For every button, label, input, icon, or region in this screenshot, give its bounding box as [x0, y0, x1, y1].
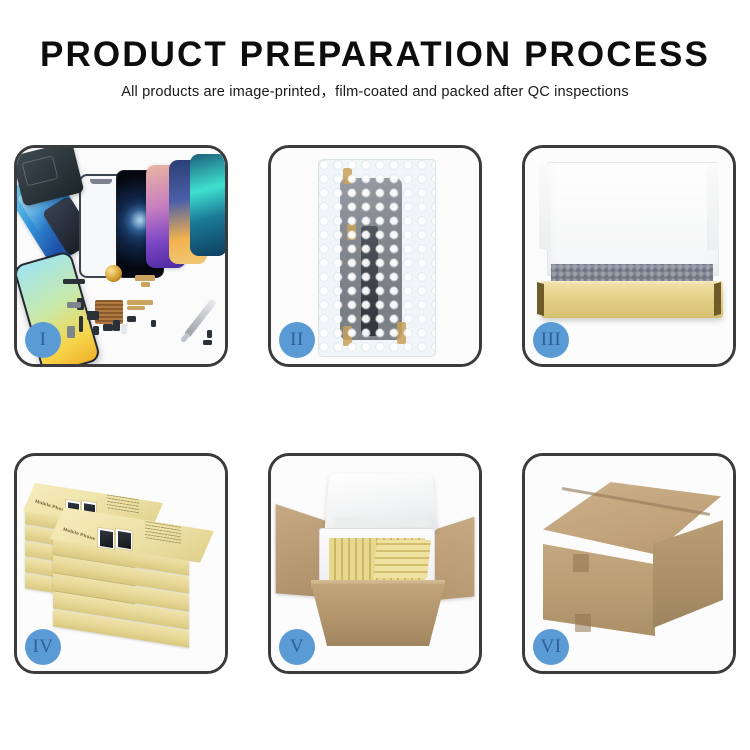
carton-body-icon: [311, 584, 445, 646]
page-title: PRODUCT PREPARATION PROCESS: [0, 34, 750, 76]
packed-yellow-boxes: [373, 540, 431, 578]
badge-step-4: IV: [25, 629, 61, 665]
badge-step-1: I: [25, 322, 61, 358]
badge-step-5: V: [279, 629, 315, 665]
round-camera-lens-icon: [105, 265, 122, 282]
box-lid-right-flap: [707, 163, 719, 252]
header: PRODUCT PREPARATION PROCESS All products…: [0, 34, 750, 101]
box-lid-left-flap: [539, 163, 551, 252]
step-panel-2[interactable]: II: [268, 145, 482, 367]
product-preparation-infographic: PRODUCT PREPARATION PROCESS All products…: [0, 0, 750, 750]
carton-tape-tab: [573, 554, 589, 572]
carton-front-face: [543, 544, 655, 636]
carton-tape-tab: [575, 614, 591, 632]
steps-grid: I II: [14, 145, 736, 674]
bubble-bag-icon: [319, 160, 435, 356]
page-subtitle: All products are image-printed，film-coat…: [0, 83, 750, 101]
box-lid-icon: [547, 162, 719, 276]
teal-phone-icon: [190, 154, 225, 256]
yellow-box-tray-icon: [541, 284, 723, 318]
step-panel-3[interactable]: III: [522, 145, 736, 367]
step-panel-4[interactable]: Mobile Phone Spare Parts Mobile Phone Sp…: [14, 453, 228, 674]
step-panel-6[interactable]: VI: [522, 453, 736, 674]
badge-step-3: III: [533, 322, 569, 358]
bubble-texture: [319, 160, 435, 356]
step-panel-1[interactable]: I: [14, 145, 228, 367]
badge-step-6: VI: [533, 629, 569, 665]
foam-cooler-lid-icon: [324, 473, 437, 531]
step-panel-5[interactable]: V: [268, 453, 482, 674]
badge-step-2: II: [279, 322, 315, 358]
